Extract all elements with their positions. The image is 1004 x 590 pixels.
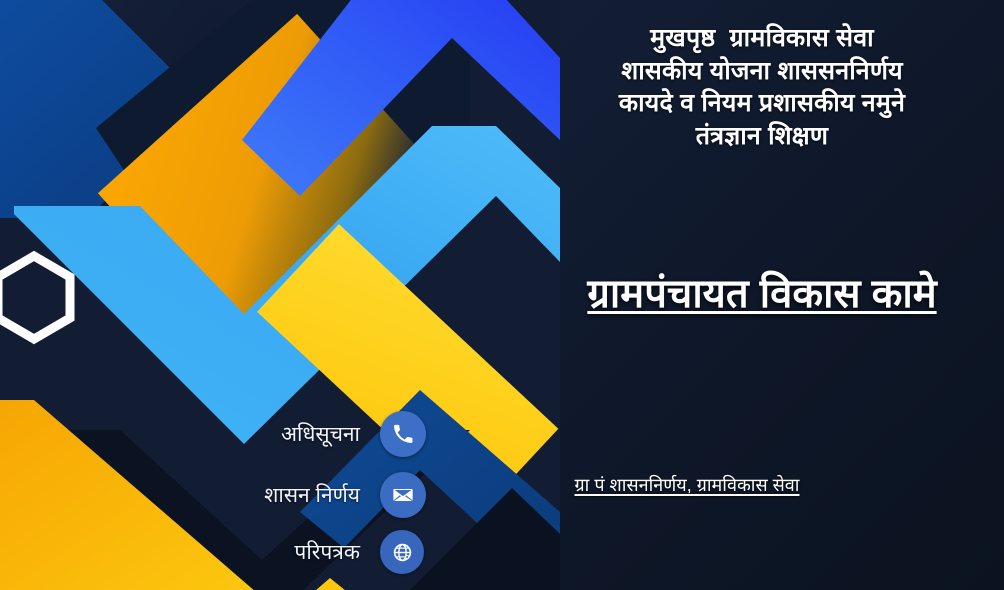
- globe-icon[interactable]: [380, 530, 424, 574]
- menu-row-circular[interactable]: परिपत्रक: [0, 524, 484, 580]
- top-navigation-text[interactable]: मुखपृष्ठ ग्रामविकास सेवा शासकीय योजना शा…: [520, 22, 1004, 152]
- caption-link[interactable]: ग्रा पं शासननिर्णय, ग्रामविकास सेवा: [520, 473, 854, 497]
- contact-menu-block: अधिसूचना शासन निर्णय परिपत्रक: [0, 404, 484, 584]
- envelope-icon[interactable]: [380, 472, 426, 518]
- page-title: ग्रामपंचायत विकास कामे: [520, 268, 1004, 321]
- menu-item-label-circular: परिपत्रक: [0, 538, 380, 566]
- presentation-slide: मुखपृष्ठ ग्रामविकास सेवा शासकीय योजना शा…: [0, 0, 1004, 590]
- menu-row-notification[interactable]: अधिसूचना: [0, 406, 484, 462]
- menu-item-label-government-decision: शासन निर्णय: [0, 481, 380, 509]
- phone-icon[interactable]: [380, 411, 426, 457]
- menu-item-label-notification: अधिसूचना: [0, 420, 380, 448]
- menu-row-government-decision[interactable]: शासन निर्णय: [0, 467, 484, 523]
- content-column: मुखपृष्ठ ग्रामविकास सेवा शासकीय योजना शा…: [520, 0, 1004, 590]
